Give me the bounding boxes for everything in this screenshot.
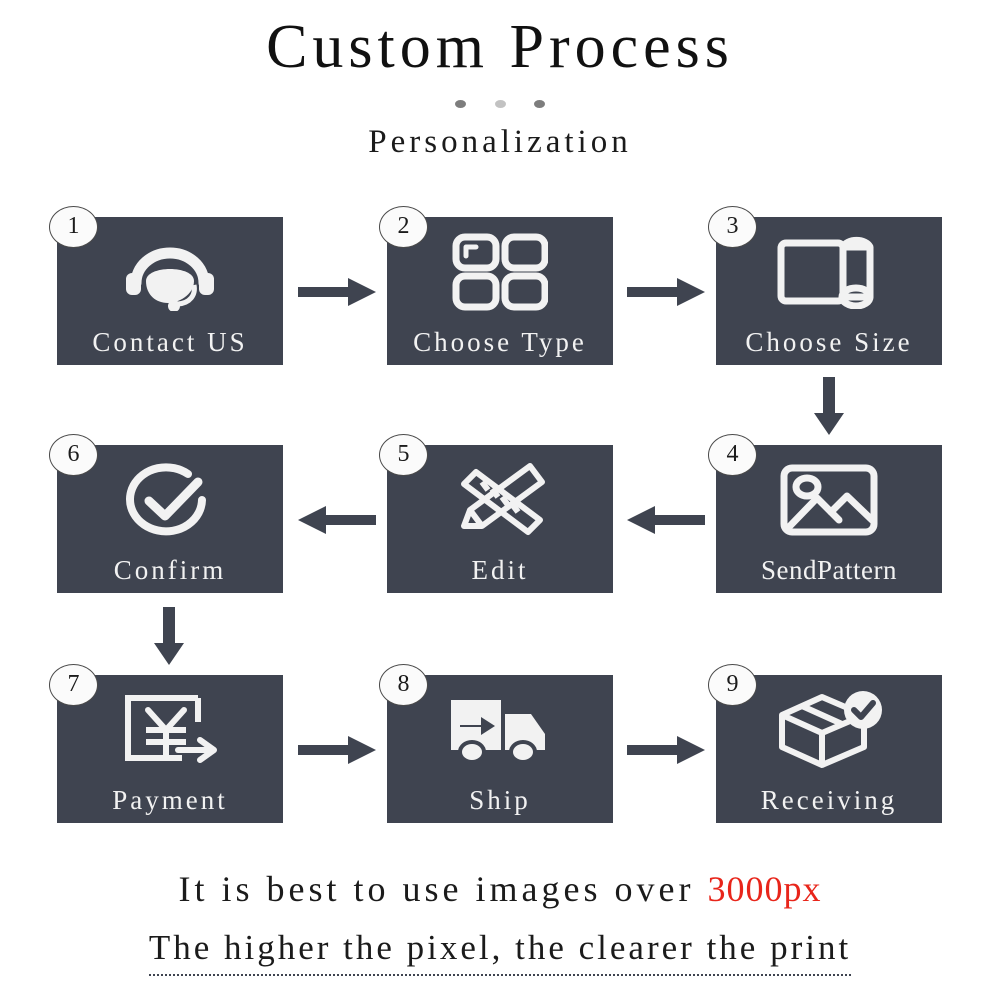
arrow-step2-to-step3 <box>625 275 707 309</box>
step-card-choose-type[interactable]: 2 Choose Type <box>387 217 613 365</box>
step-card-payment[interactable]: 7 Payment <box>57 675 283 823</box>
delivery-truck-icon <box>387 689 613 771</box>
step-label: Choose Size <box>716 327 942 358</box>
arrow-step6-to-step7 <box>152 605 186 667</box>
step-label: Contact US <box>57 327 283 358</box>
separator-dot-icon <box>534 100 545 108</box>
yen-payment-icon <box>57 689 283 771</box>
pencil-ruler-icon <box>387 459 613 541</box>
package-check-icon <box>716 689 942 771</box>
arrow-step7-to-step8 <box>296 733 378 767</box>
page-header: Custom Process Personalization <box>0 0 1000 161</box>
step-number-badge: 2 <box>379 206 428 248</box>
arrow-step4-to-step5 <box>625 503 707 537</box>
footer-note-line2: The higher the pixel, the clearer the pr… <box>0 928 1000 976</box>
step-number-badge: 3 <box>708 206 757 248</box>
process-flow-diagram: 1 Contact US 2 Choose Type <box>0 217 1000 837</box>
arrow-step1-to-step2 <box>296 275 378 309</box>
step-card-confirm[interactable]: 6 Confirm <box>57 445 283 593</box>
footer-line1-text: It is best to use images over <box>179 869 708 909</box>
check-circle-icon <box>57 459 283 541</box>
step-number-badge: 5 <box>379 434 428 476</box>
step-label: Edit <box>387 555 613 586</box>
arrow-step3-to-step4 <box>812 375 846 437</box>
step-label: Payment <box>57 785 283 816</box>
footer-line2-text: The higher the pixel, the clearer the pr… <box>149 928 851 976</box>
step-number-badge: 4 <box>708 434 757 476</box>
step-number-badge: 9 <box>708 664 757 706</box>
dot-separator <box>455 78 545 108</box>
separator-dot-icon <box>495 100 506 108</box>
step-label: Receiving <box>716 785 942 816</box>
step-number-badge: 1 <box>49 206 98 248</box>
page-title: Custom Process <box>0 0 1000 78</box>
step-number-badge: 8 <box>379 664 428 706</box>
headset-icon <box>57 231 283 313</box>
arrow-step8-to-step9 <box>625 733 707 767</box>
step-card-receiving[interactable]: 9 Receiving <box>716 675 942 823</box>
footer-highlight-3000px: 3000px <box>707 869 821 909</box>
step-card-send-pattern[interactable]: 4 SendPattern <box>716 445 942 593</box>
step-card-contact-us[interactable]: 1 Contact US <box>57 217 283 365</box>
step-card-choose-size[interactable]: 3 Choose Size <box>716 217 942 365</box>
footer-note-line1: It is best to use images over 3000px <box>0 868 1000 910</box>
step-label: Choose Type <box>387 327 613 358</box>
step-number-badge: 6 <box>49 434 98 476</box>
page-subtitle: Personalization <box>0 108 1000 161</box>
fabric-roll-icon <box>716 231 942 313</box>
step-label: Confirm <box>57 555 283 586</box>
step-label: Ship <box>387 785 613 816</box>
step-number-badge: 7 <box>49 664 98 706</box>
step-label: SendPattern <box>716 555 942 586</box>
step-card-edit[interactable]: 5 Edit <box>387 445 613 593</box>
grid-squares-icon <box>387 231 613 313</box>
image-picture-icon <box>716 459 942 541</box>
separator-dot-icon <box>455 100 466 108</box>
step-card-ship[interactable]: 8 Ship <box>387 675 613 823</box>
arrow-step5-to-step6 <box>296 503 378 537</box>
